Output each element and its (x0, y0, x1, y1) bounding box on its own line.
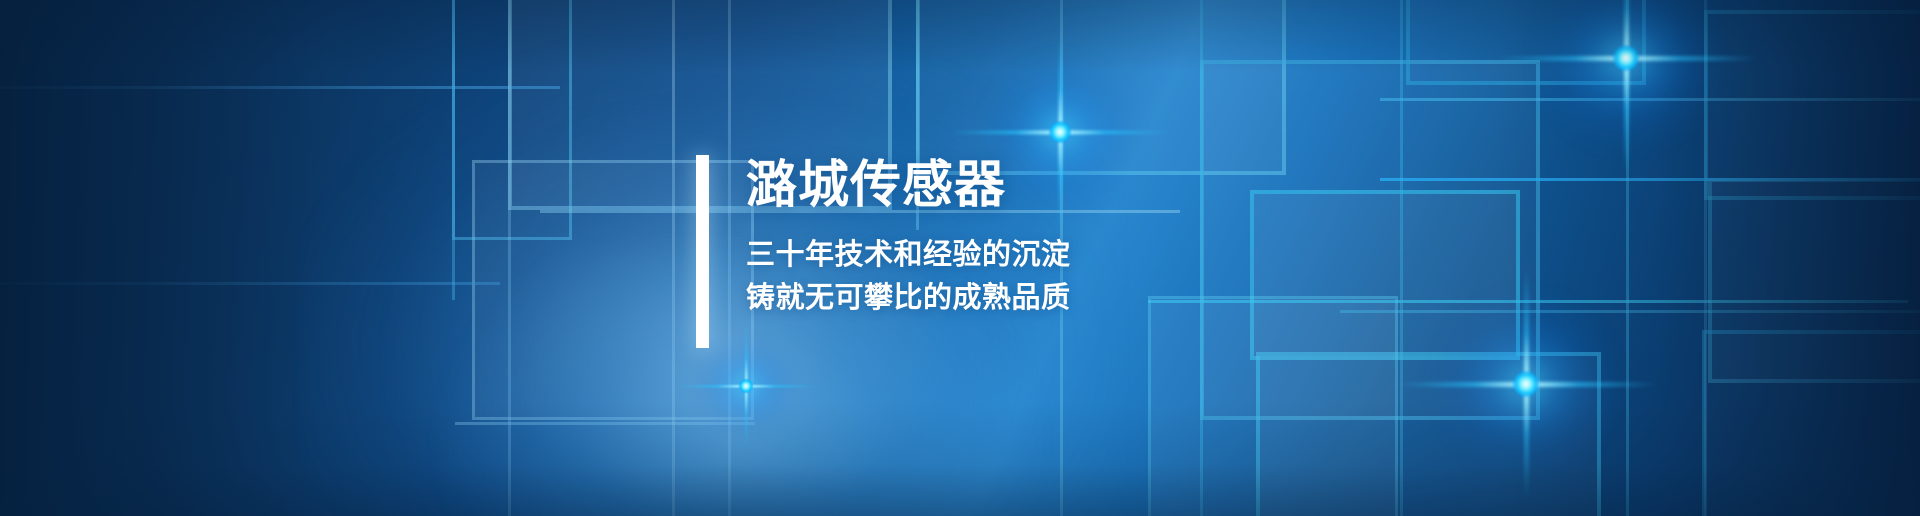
hero-text-column: 潞城传感器 三十年技术和经验的沉淀 铸就无可攀比的成熟品质 (746, 155, 1071, 348)
hline-upper-right (1380, 98, 1920, 101)
accent-bar (696, 155, 709, 348)
hline-right-mid (1380, 178, 1920, 181)
rect-right-upper (1406, 0, 1646, 85)
rect-bottom-left (1148, 296, 1398, 516)
hero-headline: 潞城传感器 (746, 157, 1071, 212)
hline-bottom-right (1340, 310, 1920, 313)
vline-j (1704, 0, 1707, 516)
rect-bottom-right (1702, 330, 1920, 516)
hero-subheading-group: 三十年技术和经验的沉淀 铸就无可攀比的成熟品质 (746, 239, 1071, 314)
hero-subline-2: 铸就无可攀比的成熟品质 (746, 282, 1071, 314)
hline-center-low (1148, 300, 1908, 303)
hero-subline-1: 三十年技术和经验的沉淀 (746, 239, 1071, 271)
hero-text-block: 潞城传感器 三十年技术和经验的沉淀 铸就无可攀比的成熟品质 (696, 155, 1071, 348)
vline-h (1400, 0, 1403, 516)
rect-right-tall (1704, 10, 1920, 200)
vline-g (1200, 0, 1203, 516)
hero-banner: 潞城传感器 三十年技术和经验的沉淀 铸就无可攀比的成熟品质 (0, 0, 1920, 516)
vline-i (1626, 0, 1629, 516)
